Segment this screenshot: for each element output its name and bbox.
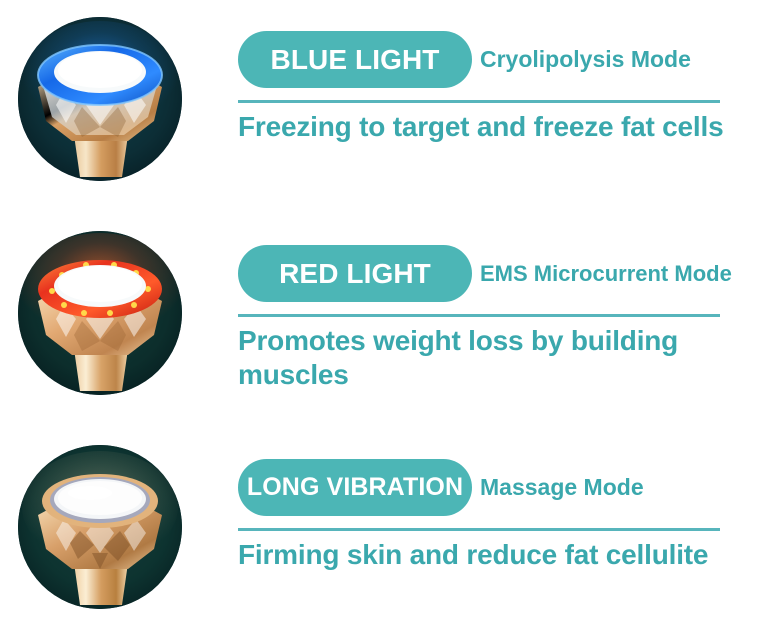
product-image-red-light [18,231,182,395]
feature-row: LONG VIBRATION Massage Mode Firming skin… [0,428,768,643]
feature-text-red-light: RED LIGHT EMS Microcurrent Mode Promotes… [238,214,758,429]
mode-badge-label: LONG VIBRATION [247,473,463,502]
feature-list-page: BLUE LIGHT Cryolipolysis Mode Freezing t… [0,0,768,644]
product-image-blue-light [18,17,182,181]
badge-line: RED LIGHT EMS Microcurrent Mode [238,245,732,302]
device-head-blue-light-icon [18,17,182,181]
device-head-vibration-icon [18,445,182,609]
feature-description: Promotes weight loss by building muscles [238,324,750,392]
feature-row: BLUE LIGHT Cryolipolysis Mode Freezing t… [0,0,768,215]
feature-description: Freezing to target and freeze fat cells [238,110,750,144]
feature-text-blue-light: BLUE LIGHT Cryolipolysis Mode Freezing t… [238,0,758,215]
feature-text-vibration: LONG VIBRATION Massage Mode Firming skin… [238,428,758,643]
section-divider [238,314,720,317]
mode-badge-blue-light[interactable]: BLUE LIGHT [238,31,472,88]
section-divider [238,100,720,103]
device-head-red-light-icon [18,231,182,395]
mode-badge-long-vibration[interactable]: LONG VIBRATION [238,459,472,516]
mode-subtitle: Cryolipolysis Mode [480,46,691,73]
feature-row: RED LIGHT EMS Microcurrent Mode Promotes… [0,214,768,429]
section-divider [238,528,720,531]
mode-badge-label: BLUE LIGHT [271,44,440,76]
product-image-vibration [18,445,182,609]
badge-line: LONG VIBRATION Massage Mode [238,459,644,516]
mode-badge-label: RED LIGHT [279,258,431,290]
feature-description: Firming skin and reduce fat cellulite [238,538,750,572]
badge-line: BLUE LIGHT Cryolipolysis Mode [238,31,691,88]
mode-subtitle: EMS Microcurrent Mode [480,261,732,287]
mode-badge-red-light[interactable]: RED LIGHT [238,245,472,302]
mode-subtitle: Massage Mode [480,474,644,501]
